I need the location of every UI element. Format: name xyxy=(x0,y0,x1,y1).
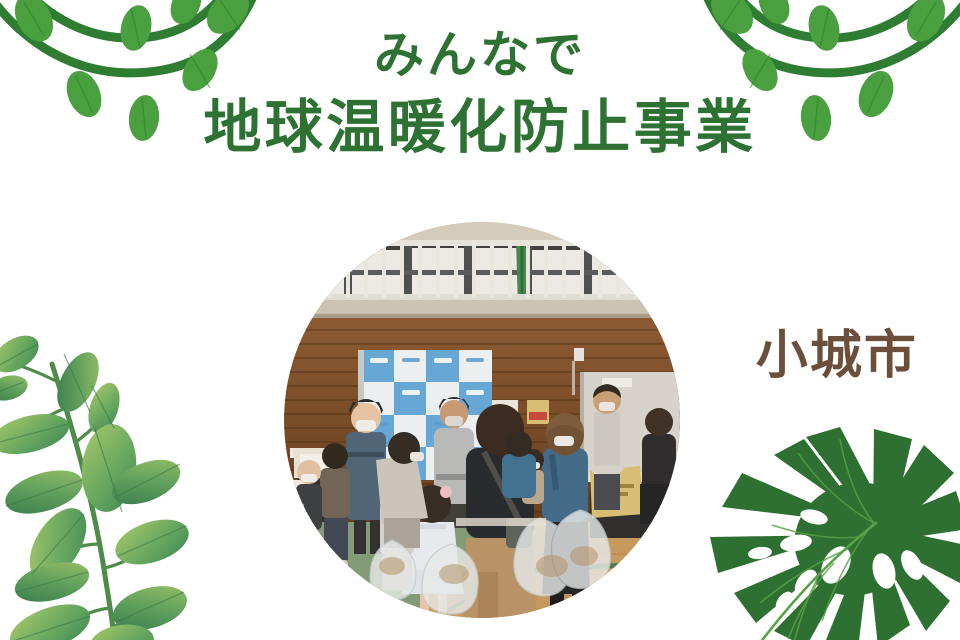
page-title: みんなで 地球温暖化防止事業 xyxy=(0,26,960,161)
watercolor-leaf-branch-icon xyxy=(0,330,259,640)
city-label: 小城市 xyxy=(756,330,918,382)
monstera-leaf-icon xyxy=(688,425,960,640)
title-line-2: 地球温暖化防止事業 xyxy=(0,93,960,161)
poster-canvas: みんなで 地球温暖化防止事業 小城市 xyxy=(0,0,960,640)
title-line-1: みんなで xyxy=(0,26,960,85)
event-photo xyxy=(284,222,680,618)
